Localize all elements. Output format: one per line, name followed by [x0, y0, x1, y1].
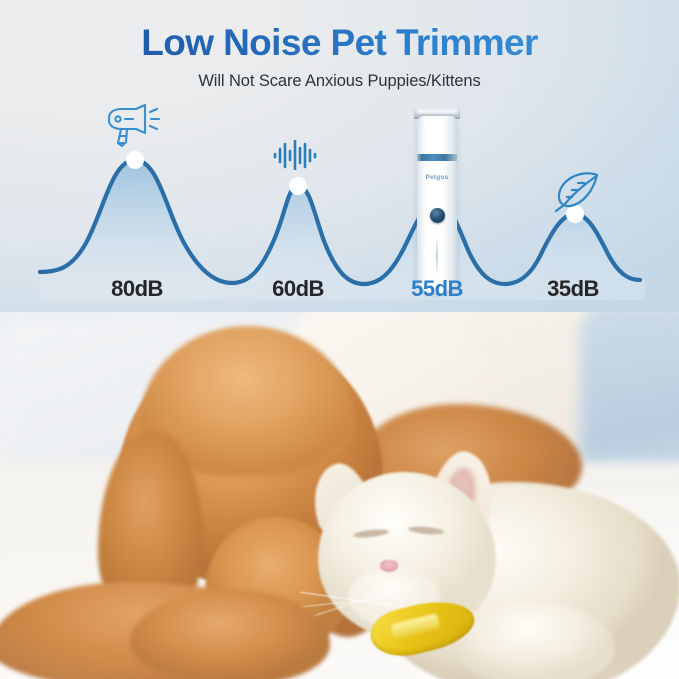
- trimmer-indicator-band: [417, 154, 457, 161]
- infographic-canvas: Low Noise Pet Trimmer Will Not Scare Anx…: [0, 0, 679, 679]
- pets-photo: [0, 312, 679, 679]
- trimmer-brand-label: Petgos: [417, 174, 457, 181]
- trimmer-seam: [436, 236, 438, 276]
- photo-vignette: [0, 312, 679, 679]
- hair-dryer-icon: [101, 103, 163, 155]
- pet-trimmer-product: Petgos: [409, 108, 465, 293]
- db-label-35: 35dB: [513, 276, 633, 302]
- sound-wave-icon: [272, 140, 318, 170]
- noise-comparison-panel: Low Noise Pet Trimmer Will Not Scare Anx…: [0, 0, 679, 312]
- noise-wave-chart: [0, 0, 679, 312]
- leaf-icon: [551, 170, 601, 214]
- db-label-60: 60dB: [238, 276, 358, 302]
- peak-marker-60db: [289, 177, 307, 195]
- db-label-80: 80dB: [77, 276, 197, 302]
- trimmer-power-button: [430, 208, 445, 223]
- db-label-55: 55dB: [377, 276, 497, 302]
